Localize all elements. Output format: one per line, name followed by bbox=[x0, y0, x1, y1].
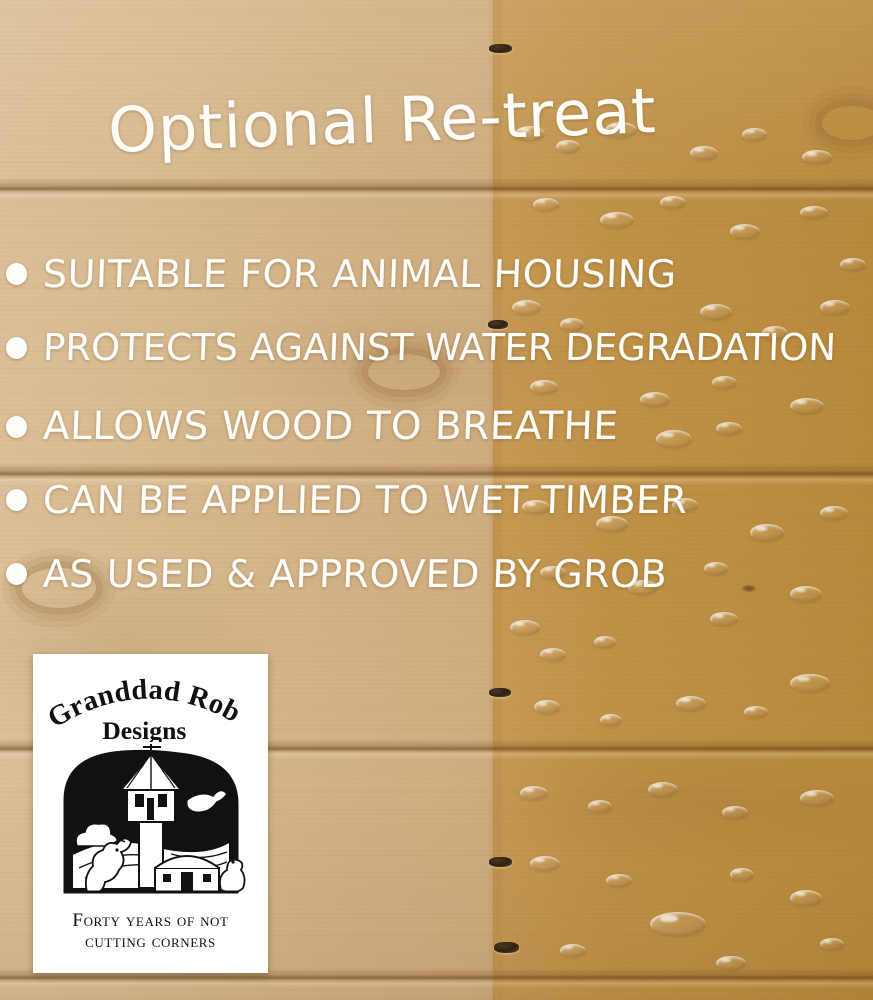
list-item-label: Suitable for animal housing bbox=[42, 252, 677, 296]
water-droplet bbox=[790, 398, 824, 414]
logo-brand-arc: Granddad Rob Designs bbox=[33, 664, 257, 742]
water-droplet bbox=[800, 790, 834, 806]
water-droplet bbox=[690, 146, 718, 160]
water-droplet bbox=[533, 198, 559, 211]
water-droplet bbox=[588, 800, 612, 813]
water-droplet bbox=[840, 258, 866, 271]
water-droplet bbox=[800, 206, 828, 219]
water-droplet bbox=[730, 224, 760, 239]
list-item: Can be applied to wet timber bbox=[6, 478, 688, 522]
water-droplet bbox=[650, 912, 706, 936]
water-droplet bbox=[742, 128, 767, 141]
list-item-label: Protects against water degradation bbox=[42, 326, 837, 369]
nail-mark bbox=[489, 44, 512, 53]
water-droplet bbox=[790, 890, 822, 906]
water-droplet bbox=[722, 806, 748, 819]
list-item: Protects against water degradation bbox=[6, 326, 836, 369]
water-droplet bbox=[802, 150, 832, 164]
logo-emblem-icon bbox=[51, 742, 251, 908]
water-droplet bbox=[700, 304, 732, 320]
brand-logo: Granddad Rob Designs bbox=[33, 654, 268, 973]
water-droplet bbox=[530, 856, 560, 871]
wood-knot-dark bbox=[742, 585, 756, 592]
water-droplet bbox=[704, 562, 728, 575]
water-droplet bbox=[716, 422, 742, 435]
water-droplet bbox=[744, 706, 768, 718]
water-droplet bbox=[712, 376, 737, 389]
water-droplet bbox=[820, 506, 848, 520]
water-droplet bbox=[660, 196, 686, 209]
water-droplet bbox=[640, 392, 670, 407]
bullet-dot-icon bbox=[6, 337, 27, 359]
water-droplet bbox=[594, 636, 616, 648]
water-droplet bbox=[790, 674, 830, 692]
water-droplet bbox=[790, 586, 822, 602]
water-droplet bbox=[520, 786, 548, 800]
logo-tagline: Forty years of not cutting corners bbox=[33, 910, 268, 953]
water-droplet bbox=[730, 868, 754, 881]
water-droplet bbox=[530, 380, 558, 394]
water-droplet bbox=[648, 782, 678, 797]
logo-brand-line2: Designs bbox=[102, 716, 186, 742]
bullet-dot-icon bbox=[6, 563, 27, 585]
water-droplet bbox=[710, 612, 738, 626]
bullet-dot-icon bbox=[6, 489, 27, 511]
water-droplet bbox=[512, 300, 541, 315]
bullet-dot-icon bbox=[6, 263, 27, 285]
logo-tagline-line2: cutting corners bbox=[33, 931, 268, 952]
list-item-label: As used & approved by GRob bbox=[42, 552, 668, 596]
water-droplet bbox=[560, 944, 586, 957]
water-droplet bbox=[750, 524, 784, 541]
list-item-label: Allows wood to breathe bbox=[42, 404, 619, 449]
water-droplet bbox=[716, 956, 746, 970]
water-droplet bbox=[600, 714, 622, 726]
list-item: Suitable for animal housing bbox=[6, 252, 677, 296]
water-droplet bbox=[600, 212, 634, 228]
nail-mark bbox=[494, 942, 519, 953]
bullet-dot-icon bbox=[6, 416, 27, 438]
list-item: As used & approved by GRob bbox=[6, 552, 667, 596]
water-droplet bbox=[820, 938, 844, 950]
poster-image: Optional Re-treat Suitable for animal ho… bbox=[0, 0, 873, 1000]
water-droplet bbox=[676, 696, 706, 711]
logo-tagline-line1: Forty years of not bbox=[33, 910, 268, 931]
water-droplet bbox=[510, 620, 540, 635]
nail-mark bbox=[489, 688, 511, 697]
water-droplet bbox=[540, 648, 566, 661]
water-droplet bbox=[656, 430, 692, 448]
water-droplet bbox=[820, 300, 850, 315]
list-item: Allows wood to breathe bbox=[6, 404, 618, 449]
water-droplet bbox=[606, 874, 632, 887]
nail-mark bbox=[489, 857, 512, 867]
list-item-label: Can be applied to wet timber bbox=[42, 478, 688, 522]
water-droplet bbox=[534, 700, 560, 714]
